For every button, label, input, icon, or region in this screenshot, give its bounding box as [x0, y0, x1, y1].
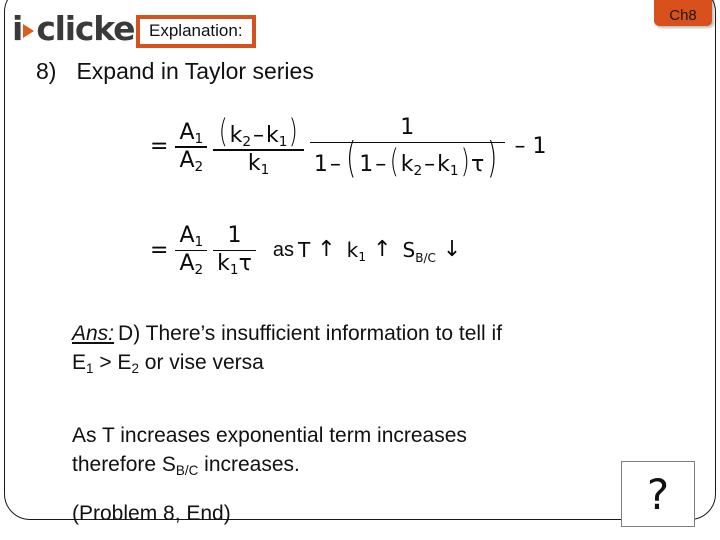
eq1-den-one-2: 1 [359, 153, 373, 178]
answer-gt-E2: > E [94, 351, 132, 374]
logo-letter-i: i [12, 12, 22, 45]
question-mark-box[interactable]: ? [621, 461, 695, 527]
eq1-den-close-paren-2: ) [460, 148, 469, 174]
arrow-down-icon-S: ↓ [443, 237, 461, 262]
eq1-den-one: 1 [314, 153, 328, 178]
eq1-k2: k [230, 124, 243, 149]
chapter-badge-label: Ch8 [669, 7, 697, 24]
eq1-den-k1b: k [437, 153, 450, 178]
eq1-num-minus: – [253, 124, 264, 149]
problem-end-text: (Problem 8, End) [72, 502, 231, 525]
logo-word-clicker: clicker [36, 12, 149, 45]
answer-line-2: E1 > E2 or vise versa [72, 351, 264, 374]
eq1-den-tau: τ [471, 153, 484, 178]
title-text: Expand in Taylor series [76, 58, 313, 84]
reason-line-1: As T increases exponential term increase… [72, 424, 467, 447]
eq1-num-close-paren: ) [289, 118, 298, 144]
eq2-frac-numerator: A1 [175, 224, 207, 249]
play-triangle-icon [23, 24, 34, 38]
eq1-den-k1: k [248, 152, 261, 177]
eq1-big-frac-bar [310, 142, 505, 144]
answer-E1-sub: 1 [86, 361, 93, 376]
arrow-up-icon-T: ↑ [317, 237, 335, 262]
eq2-k-frac-denominator: k1τ [213, 252, 256, 277]
iclicker-logo: i clicker [12, 10, 149, 46]
problem-end-label: (Problem 8, End) [72, 500, 231, 529]
eq1-frac-denominator: A2 [175, 149, 207, 174]
eq1-den-close-paren-1: ) [487, 145, 497, 171]
eq2-variable-T: T [298, 238, 310, 262]
eq1-fraction-amplitude: A1 A2 [175, 121, 207, 174]
title-number: 8) [36, 58, 56, 84]
eq1-A2: A [179, 149, 194, 174]
question-mark-icon: ? [647, 470, 669, 519]
eq2-S-sub: B/C [415, 251, 436, 265]
eq2-variable-k1: k1 [347, 238, 366, 262]
eq1-den-minus-3: – [424, 153, 435, 178]
answer-E1-base: E [72, 351, 86, 374]
reason-S-sub: B/C [176, 463, 198, 478]
eq1-k1: k [266, 124, 279, 149]
answer-tail: or vise versa [139, 351, 264, 374]
eq1-big-numerator: 1 [396, 116, 418, 141]
eq2-k1-sub: 1 [358, 249, 366, 264]
eq1-num-open-paren: ( [219, 118, 228, 144]
eq1-den-open-paren-2: ( [390, 148, 399, 174]
eq1-den-minus-1: – [330, 153, 341, 178]
chapter-badge: Ch8 [654, 0, 712, 26]
eq1-A1: A [179, 121, 194, 146]
eq2-k1-base: k [347, 238, 359, 262]
eq1-big-denominator: 1–(1–(k2–k1)τ) [310, 144, 505, 178]
reason-S-base: therefore S [72, 453, 176, 476]
answer-line-1: D) There’s insufficient information to t… [118, 322, 502, 345]
eq1-equals: = [150, 134, 168, 159]
eq1-den-open-paren-1: ( [346, 145, 356, 171]
explanation-label-text: Explanation: [149, 21, 243, 40]
eq2-k-frac-numerator: 1 [224, 224, 246, 249]
eq2-A1: A [179, 224, 194, 249]
equation-simplified-limit: = A1 A2 1 k1τ as T ↑ k1 ↑ SB/C ↓ [150, 224, 468, 277]
eq1-den-k2: k [401, 153, 414, 178]
eq2-variable-S-bc: SB/C [403, 238, 436, 262]
eq2-den-k: k [217, 252, 230, 277]
eq2-fraction-one-over-k-tau: 1 k1τ [213, 224, 256, 277]
answer-block: Ans:D) There’s insufficient information … [72, 320, 652, 378]
answer-E2-sub: 2 [131, 361, 138, 376]
eq2-as-word: as [273, 239, 294, 262]
reasoning-block: As T increases exponential term increase… [72, 422, 632, 480]
eq2-fraction-amplitude: A1 A2 [175, 224, 207, 277]
eq1-frac-numerator: A1 [175, 121, 207, 146]
eq2-equals: = [150, 238, 168, 263]
eq2-frac-denominator: A2 [175, 252, 207, 277]
reason-tail: increases. [198, 453, 300, 476]
reason-line-2: therefore SB/C increases. [72, 453, 300, 476]
eq1-minus-one-tail: – 1 [515, 134, 547, 159]
eq1-k-frac-numerator: (k2–k1) [213, 118, 304, 149]
eq1-fraction-rate-difference: (k2–k1) k1 [213, 118, 304, 177]
arrow-up-icon-k1: ↑ [373, 237, 391, 262]
equation-taylor-expansion: = A1 A2 (k2–k1) k1 1 1–(1–(k2–k1)τ) [150, 116, 547, 178]
explanation-label-box: Explanation: [136, 15, 256, 48]
eq2-A2: A [179, 252, 194, 277]
eq1-k-frac-denominator: k1 [244, 152, 273, 177]
eq2-S-base: S [403, 238, 416, 262]
slide-canvas: i clicker Explanation: Ch8 8)Expand in T… [0, 0, 720, 540]
eq2-den-tau: τ [239, 252, 252, 277]
page-title: 8)Expand in Taylor series [36, 58, 314, 85]
eq1-den-minus-2: – [375, 153, 386, 178]
answer-label: Ans: [72, 322, 114, 345]
eq1-fraction-denominator-expansion: 1 1–(1–(k2–k1)τ) [310, 116, 505, 178]
